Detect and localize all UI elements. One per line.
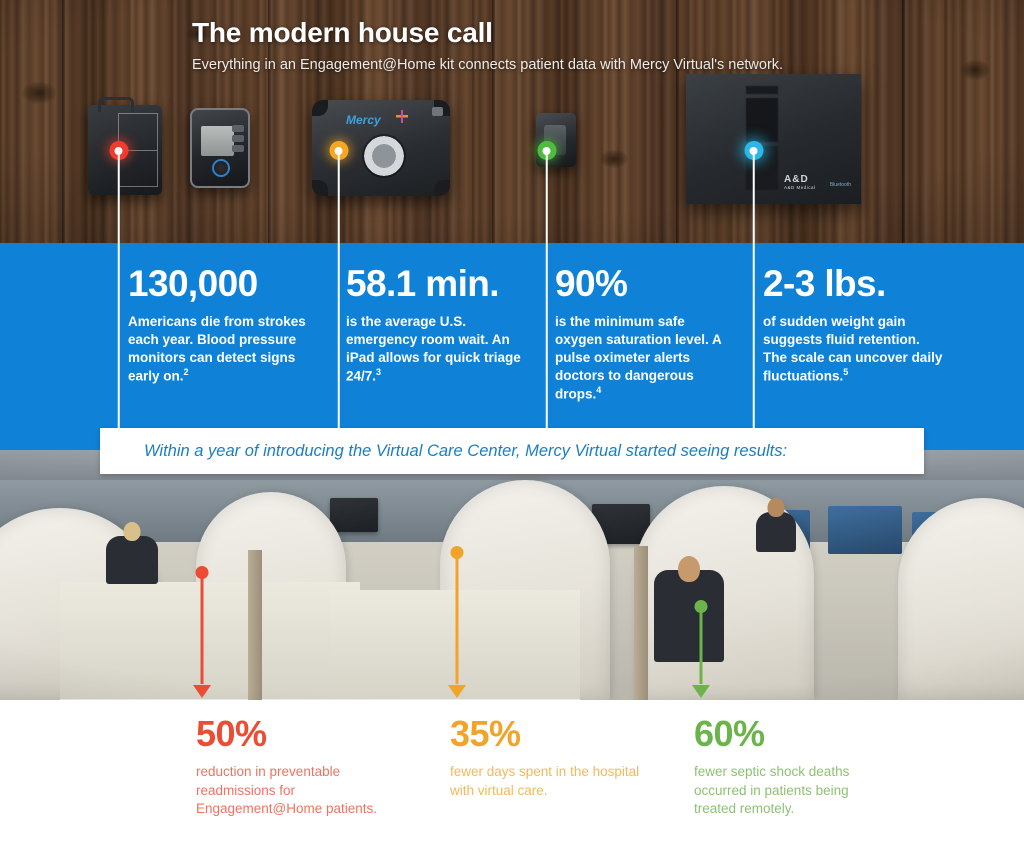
connector-marker-2: [329, 141, 348, 441]
connector-marker-4: [744, 141, 763, 441]
banner-text: Within a year of introducing the Virtual…: [144, 442, 787, 461]
footnote-marker: 4: [596, 385, 601, 395]
stat-description: is the average U.S. emergency room wait.…: [346, 313, 526, 385]
connector-marker-3: [537, 141, 556, 441]
page-title: The modern house call: [192, 17, 493, 49]
stat-value: 58.1 min.: [346, 265, 526, 304]
stat-description: of sudden weight gain suggests fluid ret…: [763, 313, 943, 385]
result-card-2: 35% fewer days spent in the hospital wit…: [450, 716, 640, 800]
result-card-1: 50% reduction in preventable readmission…: [196, 716, 406, 819]
page-subtitle: Everything in an Engagement@Home kit con…: [192, 57, 783, 73]
stat-card-2: 58.1 min. is the average U.S. emergency …: [346, 265, 526, 385]
result-value: 35%: [450, 716, 640, 752]
footnote-marker: 3: [376, 367, 381, 377]
scale-brand-sub: A&D Medical: [784, 185, 816, 190]
connector-marker-1: [109, 141, 128, 441]
bluetooth-label: Bluetooth: [830, 182, 851, 188]
result-description: reduction in preventable readmissions fo…: [196, 763, 406, 819]
result-value: 60%: [694, 716, 894, 752]
stat-value: 130,000: [128, 265, 318, 304]
stat-value: 90%: [555, 265, 735, 304]
stat-value: 2-3 lbs.: [763, 265, 943, 304]
results-footer: 50% reduction in preventable readmission…: [0, 700, 1024, 858]
result-arrow-1: [195, 566, 209, 698]
footnote-marker: 5: [843, 367, 848, 377]
scale-brand-label: A&D A&D Medical: [784, 174, 816, 190]
stats-band: 130,000 Americans die from strokes each …: [0, 243, 1024, 450]
stat-description: is the minimum safe oxygen saturation le…: [555, 313, 735, 403]
stat-description: Americans die from strokes each year. Bl…: [128, 313, 318, 385]
result-arrow-2: [450, 546, 464, 698]
stat-card-4: 2-3 lbs. of sudden weight gain suggests …: [763, 265, 943, 385]
digital-scale-image: A&D A&D Medical Bluetooth: [686, 74, 861, 204]
stat-card-1: 130,000 Americans die from strokes each …: [128, 265, 318, 385]
result-value: 50%: [196, 716, 406, 752]
mercy-cross-icon: [396, 110, 408, 123]
virtual-care-center-photo: [0, 450, 1024, 700]
result-arrow-3: [694, 600, 708, 698]
blood-pressure-monitor-image: [190, 108, 250, 188]
infographic-root: The modern house call Everything in an E…: [0, 0, 1024, 858]
mercy-logo-text: Mercy: [346, 113, 381, 127]
camera-icon: [432, 107, 443, 116]
footnote-marker: 2: [184, 367, 189, 377]
result-description: fewer septic shock deaths occurred in pa…: [694, 763, 894, 819]
results-intro-banner: Within a year of introducing the Virtual…: [100, 428, 924, 474]
result-card-3: 60% fewer septic shock deaths occurred i…: [694, 716, 894, 819]
result-description: fewer days spent in the hospital with vi…: [450, 763, 640, 800]
stat-card-3: 90% is the minimum safe oxygen saturatio…: [555, 265, 735, 403]
